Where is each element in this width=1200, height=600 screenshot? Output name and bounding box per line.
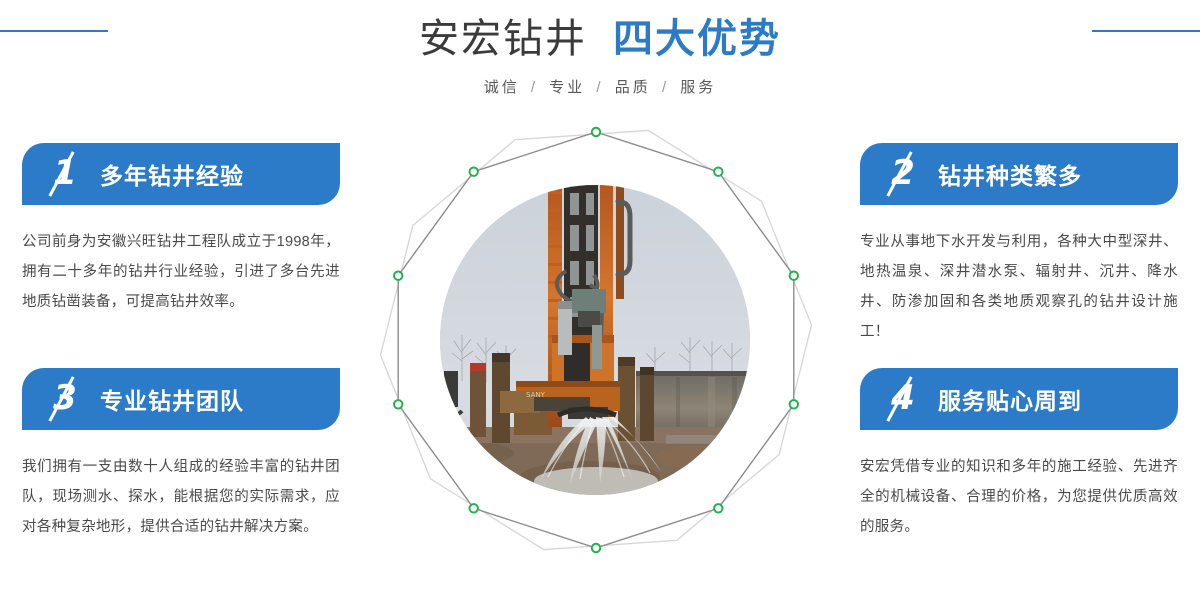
feature-card-2-header: 2 钻井种类繁多 [860, 143, 1178, 205]
vertex-marker-icon [394, 272, 402, 280]
feature-card-3-header: 3 专业钻井团队 [22, 368, 340, 430]
vertex-marker-icon [790, 272, 798, 280]
svg-text:SANY: SANY [526, 391, 546, 399]
subtitle-separator-1: / [527, 79, 542, 96]
feature-photo: SANY [440, 185, 750, 495]
number-badge-4-icon: 4 [882, 376, 928, 422]
feature-card-4-header: 4 服务贴心周到 [860, 368, 1178, 430]
vertex-marker-icon [592, 128, 600, 136]
number-badge-2-icon: 2 [882, 151, 928, 197]
vertex-marker-icon [714, 168, 722, 176]
feature-card-4-title: 服务贴心周到 [938, 382, 1082, 416]
subtitle-item-1: 诚信 [484, 79, 520, 96]
vertex-marker-icon [790, 400, 798, 408]
subtitle-item-3: 品质 [615, 79, 651, 96]
feature-card-3: 3 专业钻井团队 我们拥有一支由数十人组成的经验丰富的钻井团队，现场测水、探水，… [22, 368, 340, 542]
subtitle-item-4: 服务 [680, 79, 716, 96]
page-title: 安宏钻井 四大优势 [0, 16, 1200, 62]
vertex-marker-icon [394, 400, 402, 408]
feature-card-1-title: 多年钻井经验 [100, 157, 244, 191]
feature-card-2: 2 钻井种类繁多 专业从事地下水开发与利用，各种大中型深井、地热温泉、深井潜水泵… [860, 143, 1178, 347]
feature-card-2-title: 钻井种类繁多 [938, 157, 1082, 191]
feature-card-3-title: 专业钻井团队 [100, 382, 244, 416]
subtitle-item-2: 专业 [549, 79, 585, 96]
title-main: 安宏钻井 [419, 16, 587, 62]
feature-card-3-body: 我们拥有一支由数十人组成的经验丰富的钻井团队，现场测水、探水，能根据您的实际需求… [22, 452, 340, 542]
feature-card-1-body: 公司前身为安徽兴旺钻井工程队成立于1998年，拥有二十多年的钻井行业经验，引进了… [22, 227, 340, 317]
feature-card-1: 1 多年钻井经验 公司前身为安徽兴旺钻井工程队成立于1998年，拥有二十多年的钻… [22, 143, 340, 317]
subtitle-separator-3: / [658, 79, 673, 96]
subtitle-separator-2: / [592, 79, 607, 96]
title-accent: 四大优势 [613, 16, 781, 62]
vertex-marker-icon [714, 504, 722, 512]
vertex-marker-icon [592, 544, 600, 552]
header: 安宏钻井 四大优势 诚信 / 专业 / 品质 / 服务 [0, 0, 1200, 97]
number-badge-1-icon: 1 [44, 151, 90, 197]
feature-card-2-body: 专业从事地下水开发与利用，各种大中型深井、地热温泉、深井潜水泵、辐射井、沉井、降… [860, 227, 1178, 347]
subtitle: 诚信 / 专业 / 品质 / 服务 [0, 76, 1200, 97]
drilling-rig-photo-icon: SANY [440, 185, 750, 495]
vertex-marker-icon [470, 504, 478, 512]
feature-card-1-header: 1 多年钻井经验 [22, 143, 340, 205]
promo-banner: 安宏钻井 四大优势 诚信 / 专业 / 品质 / 服务 1 多年钻井经验 公司前… [0, 0, 1200, 600]
center-graphic: SANY [370, 105, 830, 585]
vertex-marker-icon [470, 168, 478, 176]
number-badge-3-icon: 3 [44, 376, 90, 422]
feature-card-4-body: 安宏凭借专业的知识和多年的施工经验、先进齐全的机械设备、合理的价格，为您提供优质… [860, 452, 1178, 542]
feature-card-4: 4 服务贴心周到 安宏凭借专业的知识和多年的施工经验、先进齐全的机械设备、合理的… [860, 368, 1178, 542]
